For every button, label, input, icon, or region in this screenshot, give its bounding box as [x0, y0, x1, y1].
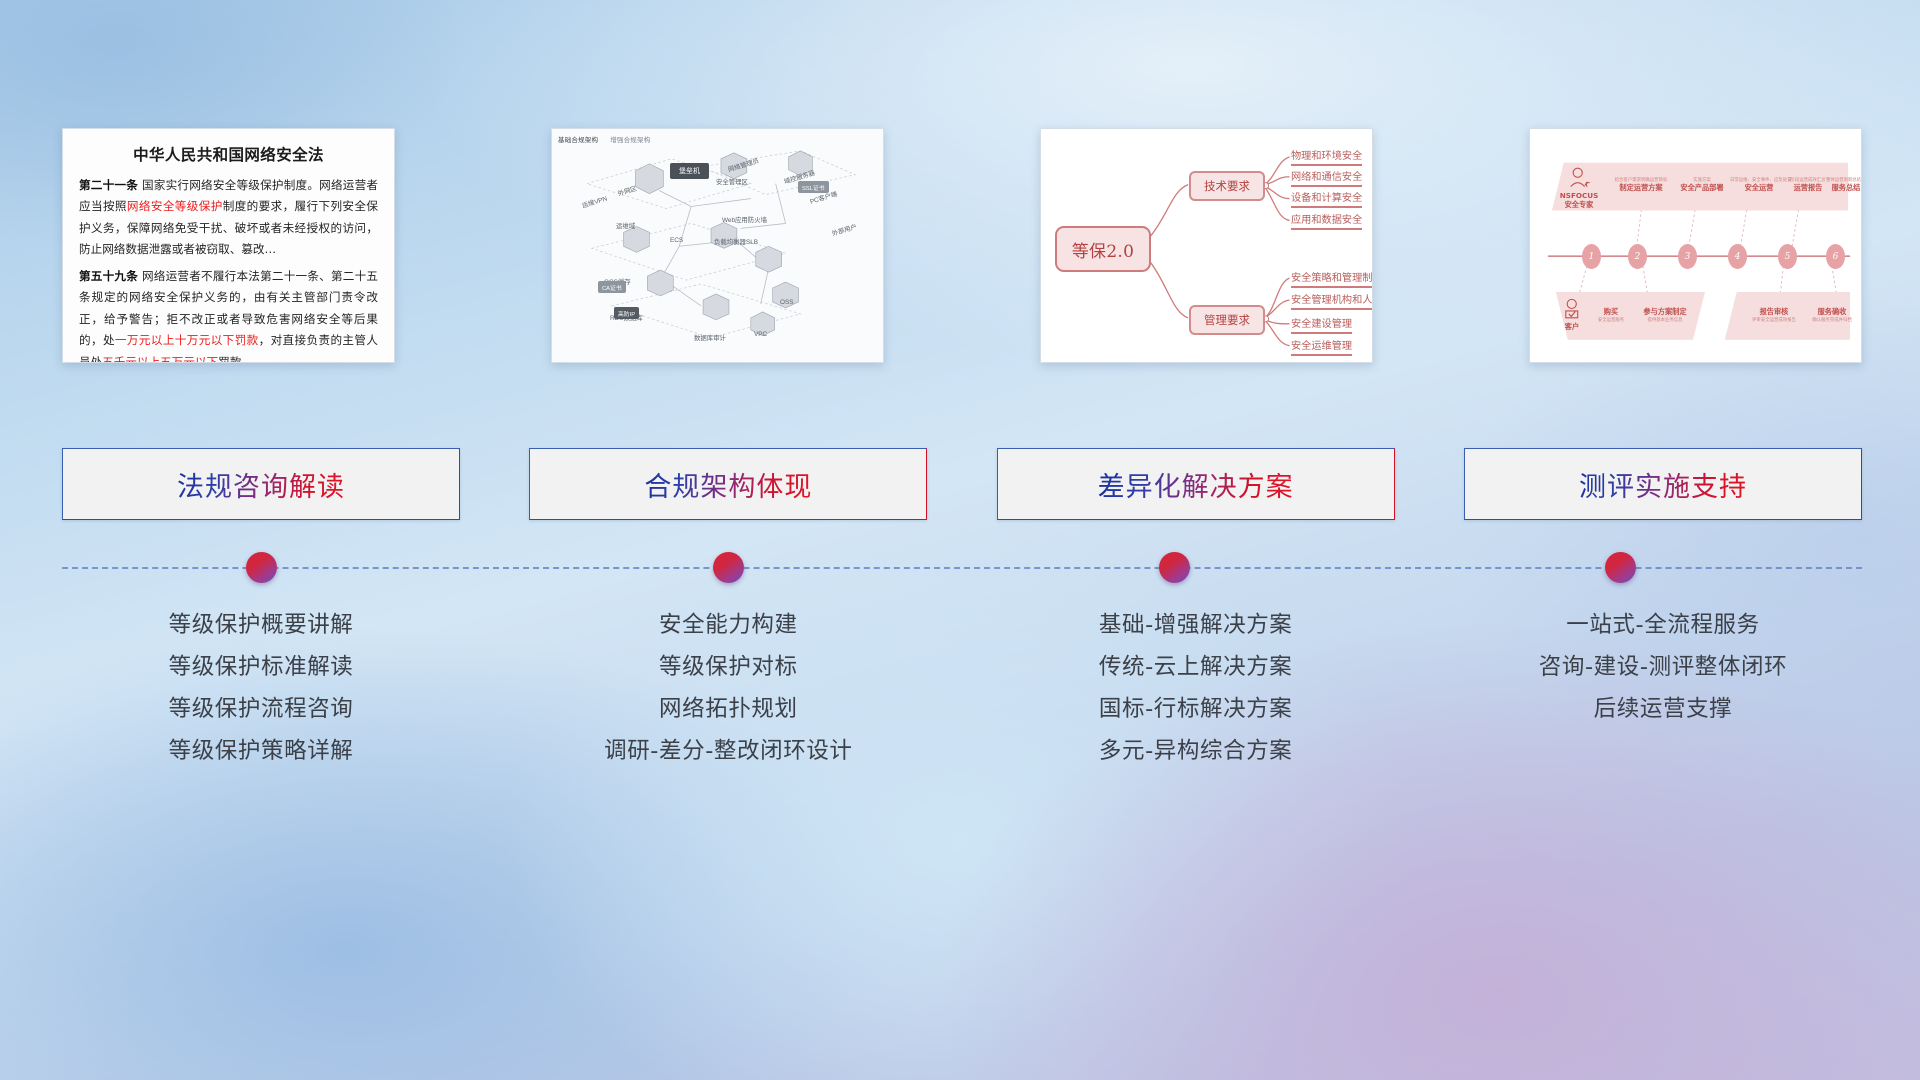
flow-top-step-1: 结合客户需求明确运营目标 制定运营方案	[1610, 177, 1672, 193]
mindmap-leaf-app-data: 应用和数据安全	[1291, 211, 1362, 230]
list-item: 等级保护标准解读	[62, 647, 460, 689]
arch-label-oss: OSS	[780, 299, 794, 306]
flow-top-step-2: 实施方案 安全产品部署	[1672, 177, 1732, 193]
timeline-dot-3	[1159, 552, 1190, 583]
flow-step-number-6: 6	[1826, 244, 1845, 269]
law-article-59-highlight-1: 一万元以上十万元以下罚款	[115, 333, 259, 347]
mindmap-leaf-ops-mgmt: 安全运维管理	[1291, 337, 1352, 356]
flow-bottom-step-3-title: 报告审核	[1748, 307, 1800, 317]
section-heading-assessment-support[interactable]: 测评实施支持	[1464, 448, 1862, 520]
section-heading-label-3: 差异化解决方案	[1098, 465, 1294, 504]
flow-bottom-step-2-title: 参与方案制定	[1630, 307, 1700, 317]
list-item: 安全能力构建	[529, 605, 927, 647]
law-article-21-highlight: 网络安全等级保护	[127, 199, 223, 213]
flow-bottom-step-1: 购买 安全运营服务	[1588, 307, 1634, 323]
mindmap-leaf-policy-system: 安全策略和管理制度	[1291, 269, 1373, 288]
mindmap-leaf-network-comm: 网络和通信安全	[1291, 168, 1362, 187]
list-item: 等级保护策略详解	[62, 731, 460, 773]
section-heading-differentiated-solution[interactable]: 差异化解决方案	[997, 448, 1395, 520]
list-item: 等级保护流程咨询	[62, 689, 460, 731]
section-list-2: 安全能力构建 等级保护对标 网络拓扑规划 调研-差分-整改闭环设计	[529, 605, 927, 772]
list-item: 等级保护概要讲解	[62, 605, 460, 647]
section-list-4: 一站式-全流程服务 咨询-建设-测评整体闭环 后续运营支撑	[1464, 605, 1862, 772]
timeline-dot-2	[713, 552, 744, 583]
section-heading-compliance-architecture[interactable]: 合规架构体现	[529, 448, 927, 520]
flow-bottom-step-3-sub: 评审安全运营成效报告	[1748, 317, 1800, 323]
arch-label-waf: Web应用防火墙	[722, 215, 767, 224]
section-list-3: 基础-增强解决方案 传统-云上解决方案 国标-行标解决方案 多元-异构综合方案	[997, 605, 1395, 772]
flow-top-actor-line2: 安全专家	[1552, 200, 1606, 210]
list-item: 咨询-建设-测评整体闭环	[1464, 647, 1862, 689]
arch-chip-ssl-cert: SSL证书	[798, 181, 829, 193]
flow-bottom-step-3: 报告审核 评审安全运营成效报告	[1748, 307, 1800, 323]
card-dengbao-mindmap[interactable]: 等保2.0 技术要求 物理和环境安全 网络和通信安全 设备和计算安全 应用和数据…	[1040, 128, 1373, 363]
law-article-21-label: 第二十一条	[79, 178, 138, 192]
flow-bottom-actor: 客户	[1550, 322, 1594, 332]
arch-label-security-mgmt-zone: 安全管理区	[716, 177, 748, 186]
law-article-21: 第二十一条 国家实行网络安全等级保护制度。网络运营者应当按照网络安全等级保护制度…	[79, 175, 378, 261]
section-heading-label-2: 合规架构体现	[644, 465, 812, 504]
flow-step-number-5: 5	[1778, 244, 1797, 269]
list-item: 多元-异构综合方案	[997, 731, 1395, 773]
section-heading-label-1: 法规咨询解读	[177, 465, 345, 504]
list-item: 等级保护对标	[529, 647, 927, 689]
flow-bottom-step-4-title: 服务确收	[1806, 307, 1858, 317]
arch-label-vpc: VPC	[754, 331, 767, 338]
card-cloud-architecture[interactable]: 基础合规架构增强合规架构	[551, 128, 884, 363]
card-cybersecurity-law[interactable]: 中华人民共和国网络安全法 第二十一条 国家实行网络安全等级保护制度。网络运营者应…	[62, 128, 395, 363]
mindmap-leaf-org-personnel: 安全管理机构和人员	[1291, 291, 1373, 310]
flow-bottom-step-2-sub: 提供基本业务信息	[1630, 317, 1700, 323]
law-article-59-label: 第五十九条	[79, 269, 138, 283]
flow-top-step-2-title: 安全产品部署	[1672, 183, 1732, 193]
mindmap: 等保2.0 技术要求 物理和环境安全 网络和通信安全 设备和计算安全 应用和数据…	[1041, 129, 1372, 362]
preview-cards-row: 中华人民共和国网络安全法 第二十一条 国家实行网络安全等级保护制度。网络运营者应…	[62, 128, 1862, 363]
law-card-body: 中华人民共和国网络安全法 第二十一条 国家实行网络安全等级保护制度。网络运营者应…	[63, 129, 394, 363]
law-article-59-highlight-2: 五千元以上五万元以下	[102, 355, 218, 364]
flow-bottom-step-1-title: 购买	[1588, 307, 1634, 317]
section-heading-label-4: 测评实施支持	[1579, 465, 1747, 504]
section-headings-row: 法规咨询解读 合规架构体现 差异化解决方案 测评实施支持	[62, 448, 1862, 520]
list-item: 基础-增强解决方案	[997, 605, 1395, 647]
flow-step-number-4: 4	[1728, 244, 1747, 269]
list-item: 调研-差分-整改闭环设计	[529, 731, 927, 773]
arch-chip-ca-cert: CA证书	[598, 281, 626, 293]
flow-top-step-3: 日常运维、安全事件、应急处置 安全运营	[1730, 177, 1788, 193]
flow-bottom-actor-label: 客户	[1550, 322, 1594, 332]
mindmap-leaf-construction-mgmt: 安全建设管理	[1291, 315, 1352, 334]
list-item: 后续运营支撑	[1464, 689, 1862, 731]
mindmap-branch-technical: 技术要求	[1189, 171, 1265, 201]
mindmap-branch-management: 管理要求	[1189, 305, 1265, 335]
section-lists-row: 等级保护概要讲解 等级保护标准解读 等级保护流程咨询 等级保护策略详解 安全能力…	[62, 605, 1862, 772]
list-item: 国标-行标解决方案	[997, 689, 1395, 731]
list-item: 传统-云上解决方案	[997, 647, 1395, 689]
flow-step-number-2: 2	[1628, 244, 1647, 269]
flow-bottom-step-1-sub: 安全运营服务	[1588, 317, 1634, 323]
flow-bottom-step-2: 参与方案制定 提供基本业务信息	[1630, 307, 1700, 323]
list-item: 一站式-全流程服务	[1464, 605, 1862, 647]
flow-bottom-step-4: 服务确收 确认服务完成并归档	[1806, 307, 1858, 323]
arch-chip-anti-ddos-ip: 高防IP	[614, 307, 639, 319]
flow-step-number-3: 3	[1678, 244, 1697, 269]
arch-label-slb: 负载均衡器SLB	[714, 237, 758, 246]
timeline-dot-4	[1605, 552, 1636, 583]
flow-bottom-step-4-sub: 确认服务完成并归档	[1806, 317, 1858, 323]
flow-top-actor-line1: NSFOCUS	[1552, 191, 1606, 200]
timeline-dashed-line	[62, 567, 1862, 569]
flow-top-step-1-title: 制定运营方案	[1610, 183, 1672, 193]
arch-label-db-audit: 数据库审计	[694, 333, 726, 342]
law-title: 中华人民共和国网络安全法	[79, 143, 378, 165]
architecture-diagram: 基础合规架构增强合规架构	[552, 129, 883, 362]
flow-step-number-1: 1	[1582, 244, 1601, 269]
arch-label-ecs: ECS	[670, 237, 683, 244]
service-flow-diagram: NSFOCUS 安全专家 结合客户需求明确运营目标 制定运营方案 实施方案 安全…	[1530, 129, 1861, 362]
timeline-dot-1	[246, 552, 277, 583]
law-article-59-text-c: 罚款。	[218, 355, 253, 364]
list-item: 网络拓扑规划	[529, 689, 927, 731]
flow-top-step-3-title: 安全运营	[1730, 183, 1788, 193]
law-article-59: 第五十九条 网络运营者不履行本法第二十一条、第二十五条规定的网络安全保护义务的，…	[79, 266, 378, 363]
section-list-1: 等级保护概要讲解 等级保护标准解读 等级保护流程咨询 等级保护策略详解	[62, 605, 460, 772]
mindmap-root-node: 等保2.0	[1055, 226, 1151, 272]
mindmap-leaf-device-compute: 设备和计算安全	[1291, 189, 1362, 208]
arch-chip-bastion: 堡垒机	[670, 163, 709, 179]
flow-top-actor: NSFOCUS 安全专家	[1552, 191, 1606, 210]
arch-label-ops-domain: 运维域	[616, 221, 635, 230]
section-heading-regulation-consulting[interactable]: 法规咨询解读	[62, 448, 460, 520]
mindmap-leaf-physical-env: 物理和环境安全	[1291, 147, 1362, 166]
card-nsfocus-service-flow[interactable]: NSFOCUS 安全专家 结合客户需求明确运营目标 制定运营方案 实施方案 安全…	[1529, 128, 1862, 363]
flow-top-step-5-title: 服务总结	[1826, 183, 1862, 193]
flow-top-step-5: 整体运营周期总结及后续建议 服务总结	[1826, 177, 1862, 193]
